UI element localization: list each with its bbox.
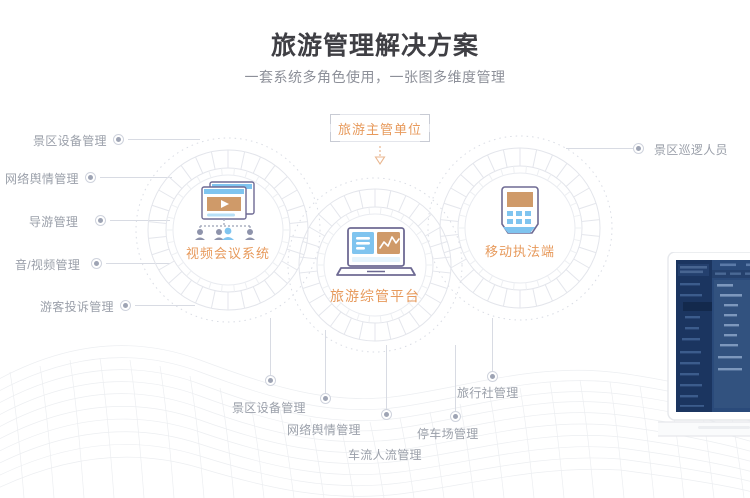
- page-title: 旅游管理解决方案: [0, 26, 750, 62]
- connector-dot-left-3: [95, 215, 106, 226]
- bottom-item-label-4[interactable]: 停车场管理: [417, 425, 479, 442]
- connector-dot-left-4: [91, 258, 102, 269]
- left-item-label-3[interactable]: 导游管理: [29, 213, 78, 230]
- left-item-label-1[interactable]: 景区设备管理: [33, 132, 107, 149]
- connector-dot-right-1: [633, 143, 644, 154]
- box-edge-top: [339, 114, 421, 115]
- connector-line-bottom-5: [492, 318, 493, 373]
- connector-line-bottom-4: [455, 345, 456, 412]
- bottom-item-label-5[interactable]: 旅行社管理: [457, 384, 519, 401]
- node-label-video-conference: 视频会议系统: [148, 243, 308, 262]
- connector-dot-bottom-3: [381, 409, 392, 420]
- authority-box[interactable]: 旅游主管单位: [330, 114, 430, 142]
- box-corner-top-right: [420, 114, 430, 124]
- left-item-label-4[interactable]: 音/视频管理: [15, 256, 80, 273]
- left-item-label-5[interactable]: 游客投诉管理: [40, 298, 114, 315]
- node-label-tourism-platform: 旅游综管平台: [295, 286, 455, 306]
- bottom-item-label-3[interactable]: 车流人流管理: [348, 446, 422, 463]
- connector-dot-left-2: [85, 172, 96, 183]
- left-item-label-2[interactable]: 网络舆情管理: [5, 170, 79, 187]
- authority-label: 旅游主管单位: [338, 119, 422, 138]
- connector-dot-bottom-1: [265, 375, 276, 386]
- connector-dot-bottom-2: [320, 393, 331, 404]
- laptop-dashboard-mockup: [658, 252, 750, 480]
- right-item-label-1[interactable]: 景区巡逻人员: [654, 141, 728, 158]
- connector-dot-left-1: [113, 134, 124, 145]
- authority-down-arrow-icon: [373, 146, 387, 166]
- page-subtitle: 一套系统多角色使用，一张图多维度管理: [0, 67, 750, 87]
- mobile-device-icon: [497, 184, 543, 242]
- connector-dot-left-5: [120, 300, 131, 311]
- connector-dot-bottom-5: [487, 371, 498, 382]
- bottom-item-label-2[interactable]: 网络舆情管理: [287, 421, 361, 438]
- infographic-canvas: 旅游管理解决方案 一套系统多角色使用，一张图多维度管理 旅游主管单位 景区设备管…: [0, 0, 750, 498]
- box-corner-bottom-left: [330, 132, 340, 142]
- connector-line-bottom-1: [270, 318, 271, 376]
- laptop-dashboard-icon: [333, 226, 419, 282]
- box-corner-top-left: [330, 114, 340, 124]
- bottom-item-label-1[interactable]: 景区设备管理: [232, 399, 306, 416]
- box-edge-bottom: [339, 141, 421, 142]
- connector-dot-bottom-4: [450, 411, 461, 422]
- video-conference-icon: [188, 180, 268, 242]
